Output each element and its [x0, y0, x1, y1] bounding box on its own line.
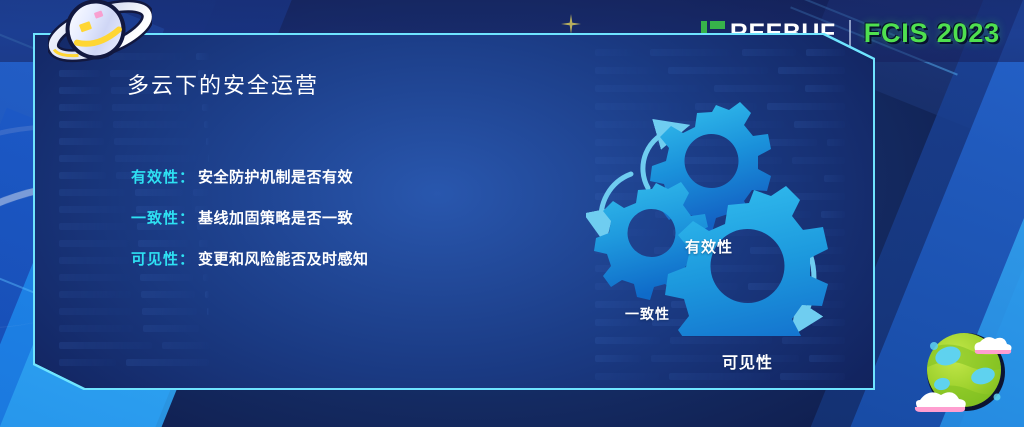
- bullet-text: 安全防护机制是否有效: [198, 166, 353, 187]
- sparkle-star-icon: [561, 14, 581, 34]
- slide-canvas: REEBUF FCIS 2023 多云下的安全运营 有效性 ： 安全防护机制是否…: [0, 0, 1024, 427]
- bullet-label: 有效性: [131, 166, 179, 187]
- page-title: 多云下的安全运营: [127, 68, 319, 100]
- bullet-colon: ：: [179, 248, 194, 269]
- conference-title: FCIS 2023: [864, 20, 1000, 47]
- gear-label-effectiveness: 有效性: [685, 236, 733, 257]
- bullet-label: 可见性: [131, 248, 179, 269]
- list-item: 可见性 ： 变更和风险能否及时感知: [131, 248, 369, 269]
- bullet-colon: ：: [179, 207, 194, 228]
- list-item: 有效性 ： 安全防护机制是否有效: [131, 166, 369, 187]
- bullet-colon: ：: [179, 166, 194, 187]
- ringed-planet-icon: [48, 0, 152, 68]
- list-item: 一致性 ： 基线加固策略是否一致: [131, 207, 369, 228]
- bullet-text: 基线加固策略是否一致: [198, 207, 353, 228]
- gear-label-visibility: 可见性: [722, 349, 773, 373]
- bullet-list: 有效性 ： 安全防护机制是否有效 一致性 ： 基线加固策略是否一致 可见性 ： …: [131, 166, 369, 269]
- green-planet-icon: [914, 318, 1018, 422]
- gear-label-consistency: 一致性: [625, 304, 670, 324]
- bullet-label: 一致性: [131, 207, 179, 228]
- bullet-text: 变更和风险能否及时感知: [198, 248, 369, 269]
- gear-diagram: 有效性 一致性 可见性: [586, 96, 886, 336]
